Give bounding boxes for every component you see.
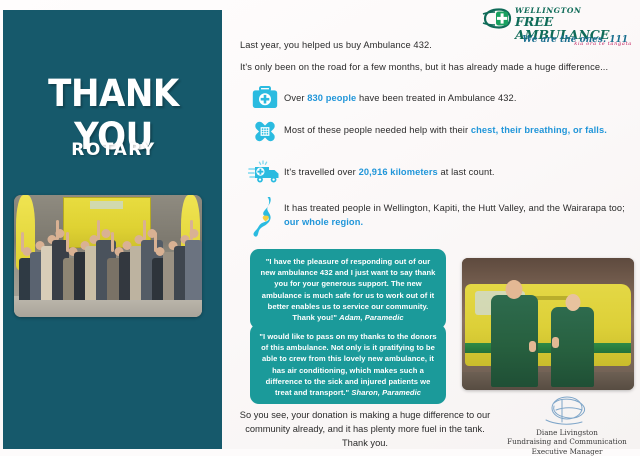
fact-row: Most of these people needed help with th… — [246, 118, 607, 145]
fact-icon-slot — [246, 86, 284, 109]
group-photo-ambulance-window — [90, 201, 123, 209]
group-photo-person-head — [102, 229, 111, 238]
fact-text-highlight: 830 people — [307, 93, 356, 103]
paramedics-photo-floor — [462, 372, 634, 390]
fact-text-post: have been treated in Ambulance 432. — [356, 93, 516, 103]
fact-text-highlight: our whole region. — [284, 217, 363, 227]
letter-page: THANK YOU ROTARY WELLINGTON FREE AMBULAN… — [0, 0, 640, 449]
rotary-subheading: ROTARY — [11, 140, 216, 160]
fact-text-post: at last count. — [438, 167, 495, 177]
paramedics-photo-ambulance — [465, 284, 630, 366]
closing-paragraph: So you see, your donation is making a hu… — [237, 408, 493, 450]
group-photo-raised-arm — [66, 232, 69, 252]
fact-text-pre: It's travelled over — [284, 167, 359, 177]
fact-text-highlight: 20,916 kilometers — [359, 167, 438, 177]
testimonial-quote: "I would like to pass on my thanks to th… — [250, 324, 446, 404]
first-aid-kit-icon — [252, 86, 278, 109]
fact-row: Over 830 people have been treated in Amb… — [246, 86, 517, 109]
group-photo-raised-arm — [143, 220, 146, 240]
testimonial-quote: "I have the pleasure of responding out o… — [250, 249, 446, 329]
signatory-name: Diane Livingston — [498, 428, 636, 437]
fact-icon-slot — [246, 160, 284, 184]
quote-attribution: Adam, Paramedic — [339, 313, 403, 322]
ambulance-swoosh-icon — [482, 8, 512, 29]
fact-text-pre: Most of these people needed help with th… — [284, 125, 471, 135]
logo-tagline: We are the ones. 111 — [522, 35, 628, 45]
group-photo-person-head — [189, 229, 198, 238]
fact-row: It's travelled over 20,916 kilometers at… — [246, 160, 495, 184]
paramedics-photo-ambulance-stripe — [465, 343, 630, 354]
paramedic-figure-male — [491, 295, 537, 387]
group-photo-raised-arm — [97, 220, 100, 240]
fact-row: It has treated people in Wellington, Kap… — [246, 196, 640, 238]
paramedics-photo — [462, 258, 634, 390]
fact-text: It has treated people in Wellington, Kap… — [284, 196, 640, 229]
intro-line-2: It's only been on the road for a few mon… — [240, 62, 608, 72]
handwritten-signature — [538, 394, 596, 428]
group-photo-raised-arm — [154, 232, 157, 252]
bandages-icon — [251, 118, 279, 145]
fact-text: Most of these people needed help with th… — [284, 118, 607, 137]
fact-text-pre: Over — [284, 93, 307, 103]
quote-attribution: Sharon, Paramedic — [351, 388, 421, 397]
new-zealand-map-icon — [253, 196, 277, 238]
paramedic-head — [506, 280, 523, 299]
ambulance-icon — [248, 160, 282, 184]
signatory-role-line-1: Fundraising and Communication — [498, 437, 636, 446]
intro-line-1: Last year, you helped us buy Ambulance 4… — [240, 40, 432, 50]
paramedic-head — [565, 294, 580, 311]
fact-icon-slot — [246, 196, 284, 238]
group-photo-person-head — [56, 229, 65, 238]
fact-text-pre: It has treated people in Wellington, Kap… — [284, 203, 625, 213]
wfa-logo: WELLINGTON FREE AMBULANCE kia ora te tan… — [482, 6, 632, 32]
group-photo-raised-arm — [21, 232, 24, 252]
fact-text-highlight: chest, their breathing, or falls. — [471, 125, 607, 135]
group-photo-raised-arm — [111, 232, 114, 252]
left-thank-you-panel: THANK YOU ROTARY — [3, 10, 222, 449]
paramedic-thumb — [529, 341, 536, 352]
fact-text: It's travelled over 20,916 kilometers at… — [284, 160, 495, 179]
group-photo-person — [185, 240, 202, 300]
fact-text: Over 830 people have been treated in Amb… — [284, 86, 517, 105]
paramedic-figure-female — [551, 307, 594, 388]
fact-icon-slot — [246, 118, 284, 145]
paramedic-thumb — [552, 337, 559, 348]
signatory-role-line-2: Executive Manager — [498, 447, 636, 456]
signature-block: Diane Livingston Fundraising and Communi… — [498, 428, 636, 456]
group-photo — [14, 195, 202, 317]
